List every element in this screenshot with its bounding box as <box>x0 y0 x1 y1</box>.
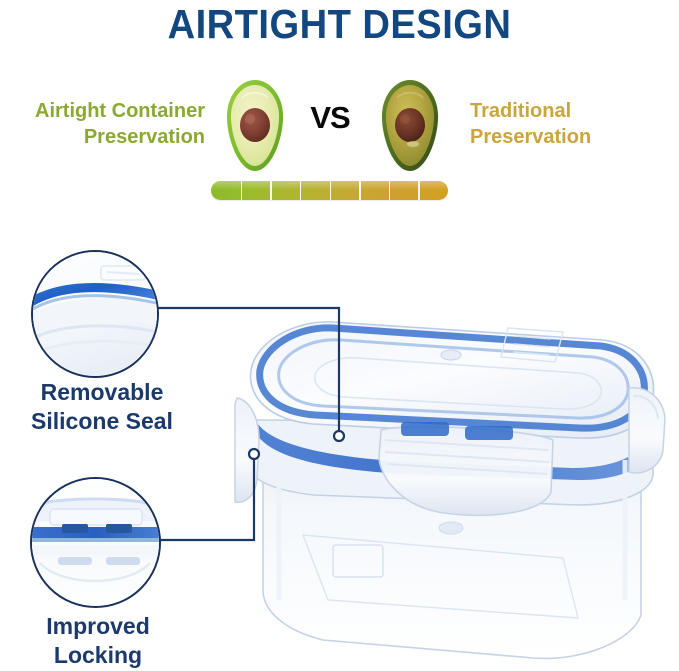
callout-label-improved-locking: Improved Locking <box>0 612 196 670</box>
callout-label-line1: Improved <box>0 612 196 641</box>
callout-label-line2: Silicone Seal <box>4 407 200 436</box>
callout-label-silicone-seal: Removable Silicone Seal <box>4 378 200 436</box>
callout-circle-silicone-seal <box>31 250 159 378</box>
callout-label-line2: Locking <box>0 641 196 670</box>
callout-label-line1: Removable <box>4 378 200 407</box>
callout-circle-improved-locking <box>30 477 161 608</box>
infographic-canvas: AIRTIGHT DESIGN Airtight Container Prese… <box>0 0 679 671</box>
